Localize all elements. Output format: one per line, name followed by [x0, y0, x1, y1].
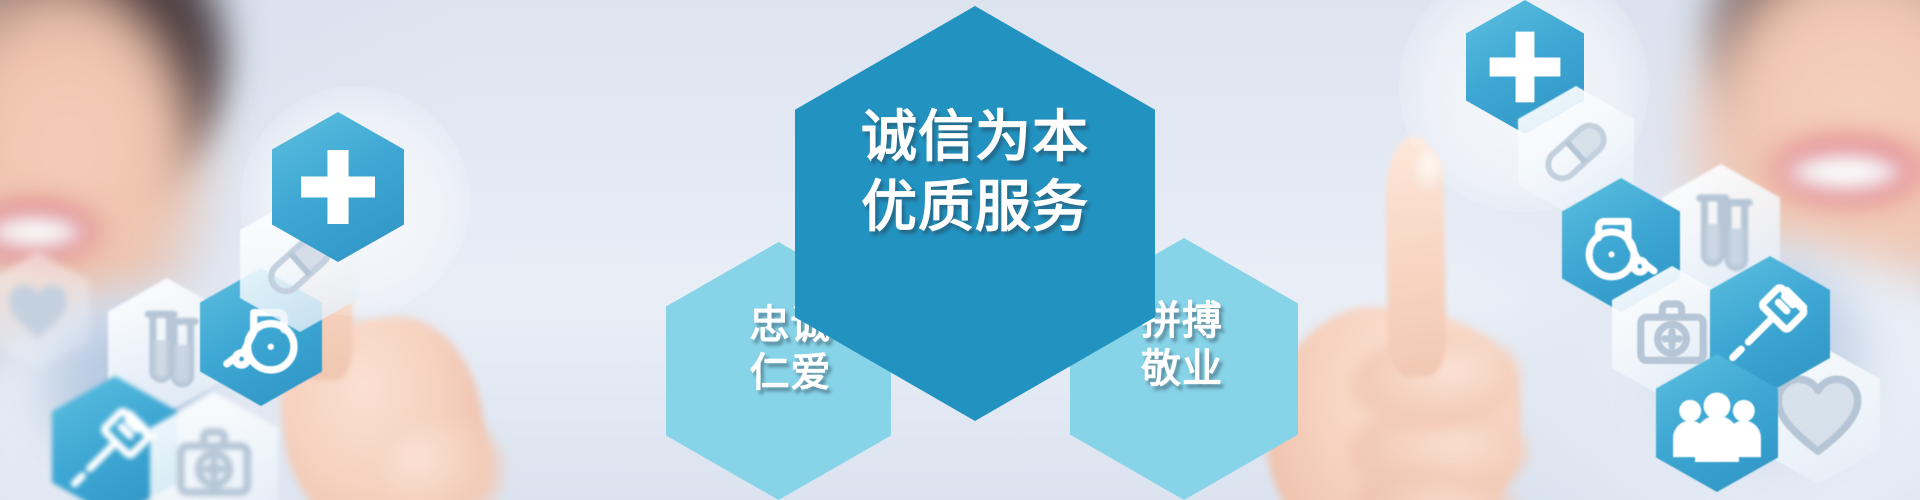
hospital-values-banner: 忠诚 仁爱 拼搏 敬业 诚信为本 优质服务 — [0, 0, 1920, 500]
left-heart-icon-tile — [0, 252, 90, 370]
right-medical-team-icon-tile — [1656, 354, 1778, 492]
slogan-right-line2: 敬业 — [1141, 348, 1223, 390]
right-person-teeth — [1780, 150, 1910, 194]
heart-icon — [0, 252, 90, 370]
first-aid-kit-icon — [150, 392, 278, 500]
medical-cross-icon — [272, 112, 404, 262]
slogan-center-line2: 优质服务 — [861, 177, 1089, 236]
medical-team-icon — [1656, 354, 1778, 492]
left-medical-cross-icon-tile — [272, 112, 404, 262]
left-first-aid-kit-icon-tile — [150, 392, 278, 500]
slogan-center-line1: 诚信为本 — [861, 107, 1089, 166]
slogan-left-line2: 仁爱 — [750, 352, 832, 394]
